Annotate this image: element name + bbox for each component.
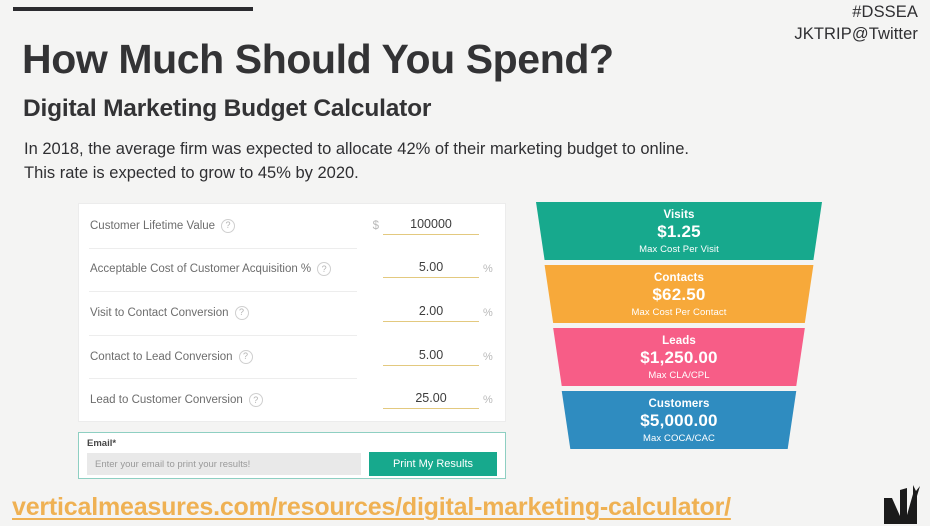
calculator-input-group: % [379, 348, 493, 366]
calculator-value-input[interactable] [383, 304, 479, 322]
percent-symbol: % [483, 307, 493, 322]
calculator-value-input[interactable] [383, 260, 479, 278]
help-icon[interactable]: ? [239, 350, 253, 364]
calculator-row: Customer Lifetime Value?$ [79, 204, 505, 248]
calculator-card: Customer Lifetime Value?$Acceptable Cost… [78, 203, 506, 422]
funnel-stage-name: Contacts [536, 272, 822, 284]
help-icon[interactable]: ? [249, 393, 263, 407]
funnel-stage-sublabel: Max Cost Per Contact [536, 307, 822, 318]
percent-symbol: % [483, 394, 493, 409]
intro-line-2: This rate is expected to grow to 45% by … [24, 162, 689, 186]
social-handles: #DSSEA JKTRIP@Twitter [794, 2, 918, 46]
page-subtitle: Digital Marketing Budget Calculator [23, 95, 431, 123]
calculator-row: Lead to Customer Conversion?% [79, 378, 505, 422]
email-field-label: Email* [87, 438, 497, 449]
funnel-stage-name: Customers [536, 398, 822, 410]
calculator-row: Acceptable Cost of Customer Acquisition … [79, 248, 505, 292]
page-title: How Much Should You Spend? [22, 36, 614, 83]
calculator-label-text: Lead to Customer Conversion [90, 394, 243, 406]
calculator-value-input[interactable] [383, 348, 479, 366]
calculator-input-group: % [379, 260, 493, 278]
email-input-row: Print My Results [87, 452, 497, 476]
footer-url-bar: verticalmeasures.com/resources/digital-m… [0, 484, 930, 526]
funnel-stage-value: $1.25 [536, 222, 822, 242]
calculator-row-label: Contact to Lead Conversion? [79, 350, 253, 364]
calculator-input-group: % [379, 304, 493, 322]
hashtag-text: #DSSEA [794, 2, 918, 24]
calculator-label-text: Customer Lifetime Value [90, 220, 215, 232]
vertical-measures-logo [880, 482, 924, 526]
calculator-input-group: $ [373, 217, 493, 235]
help-icon[interactable]: ? [317, 262, 331, 276]
funnel-segment: Leads$1,250.00Max CLA/CPL [536, 328, 822, 386]
calculator-label-text: Acceptable Cost of Customer Acquisition … [90, 263, 311, 275]
funnel-stage-name: Leads [536, 335, 822, 347]
funnel-stage-value: $5,000.00 [536, 411, 822, 431]
help-icon[interactable]: ? [221, 219, 235, 233]
funnel-segment: Contacts$62.50Max Cost Per Contact [536, 265, 822, 323]
funnel-stage-sublabel: Max Cost Per Visit [536, 244, 822, 255]
calculator-row: Contact to Lead Conversion?% [79, 335, 505, 379]
funnel-stage-sublabel: Max COCA/CAC [536, 433, 822, 444]
percent-symbol [483, 232, 493, 235]
calculator-row-label: Visit to Contact Conversion? [79, 306, 249, 320]
calculator-label-text: Visit to Contact Conversion [90, 307, 229, 319]
intro-line-1: In 2018, the average firm was expected t… [24, 138, 689, 162]
calculator-value-input[interactable] [383, 217, 479, 235]
funnel-stage-value: $1,250.00 [536, 348, 822, 368]
funnel-stage-name: Visits [536, 209, 822, 221]
calculator-input-group: % [379, 391, 493, 409]
percent-symbol: % [483, 263, 493, 278]
calculator-row-label: Lead to Customer Conversion? [79, 393, 263, 407]
funnel-segment: Customers$5,000.00Max COCA/CAC [536, 391, 822, 449]
calculator-row: Visit to Contact Conversion?% [79, 291, 505, 335]
currency-symbol: $ [373, 220, 379, 235]
calculator-url-link[interactable]: verticalmeasures.com/resources/digital-m… [12, 493, 731, 522]
email-input[interactable] [87, 453, 361, 475]
funnel-stage-sublabel: Max CLA/CPL [536, 370, 822, 381]
calculator-row-label: Customer Lifetime Value? [79, 219, 235, 233]
print-my-results-button[interactable]: Print My Results [369, 452, 497, 476]
twitter-handle-text: JKTRIP@Twitter [794, 24, 918, 46]
top-divider-rule [13, 7, 253, 11]
calculator-label-text: Contact to Lead Conversion [90, 351, 233, 363]
calculator-value-input[interactable] [383, 391, 479, 409]
percent-symbol: % [483, 351, 493, 366]
funnel-stage-value: $62.50 [536, 285, 822, 305]
help-icon[interactable]: ? [235, 306, 249, 320]
calculator-row-label: Acceptable Cost of Customer Acquisition … [79, 262, 331, 276]
funnel-segment: Visits$1.25Max Cost Per Visit [536, 202, 822, 260]
email-capture-form: Email* Print My Results [78, 432, 506, 479]
intro-paragraph: In 2018, the average firm was expected t… [24, 138, 689, 186]
conversion-funnel-chart: Visits$1.25Max Cost Per VisitContacts$62… [536, 202, 822, 452]
